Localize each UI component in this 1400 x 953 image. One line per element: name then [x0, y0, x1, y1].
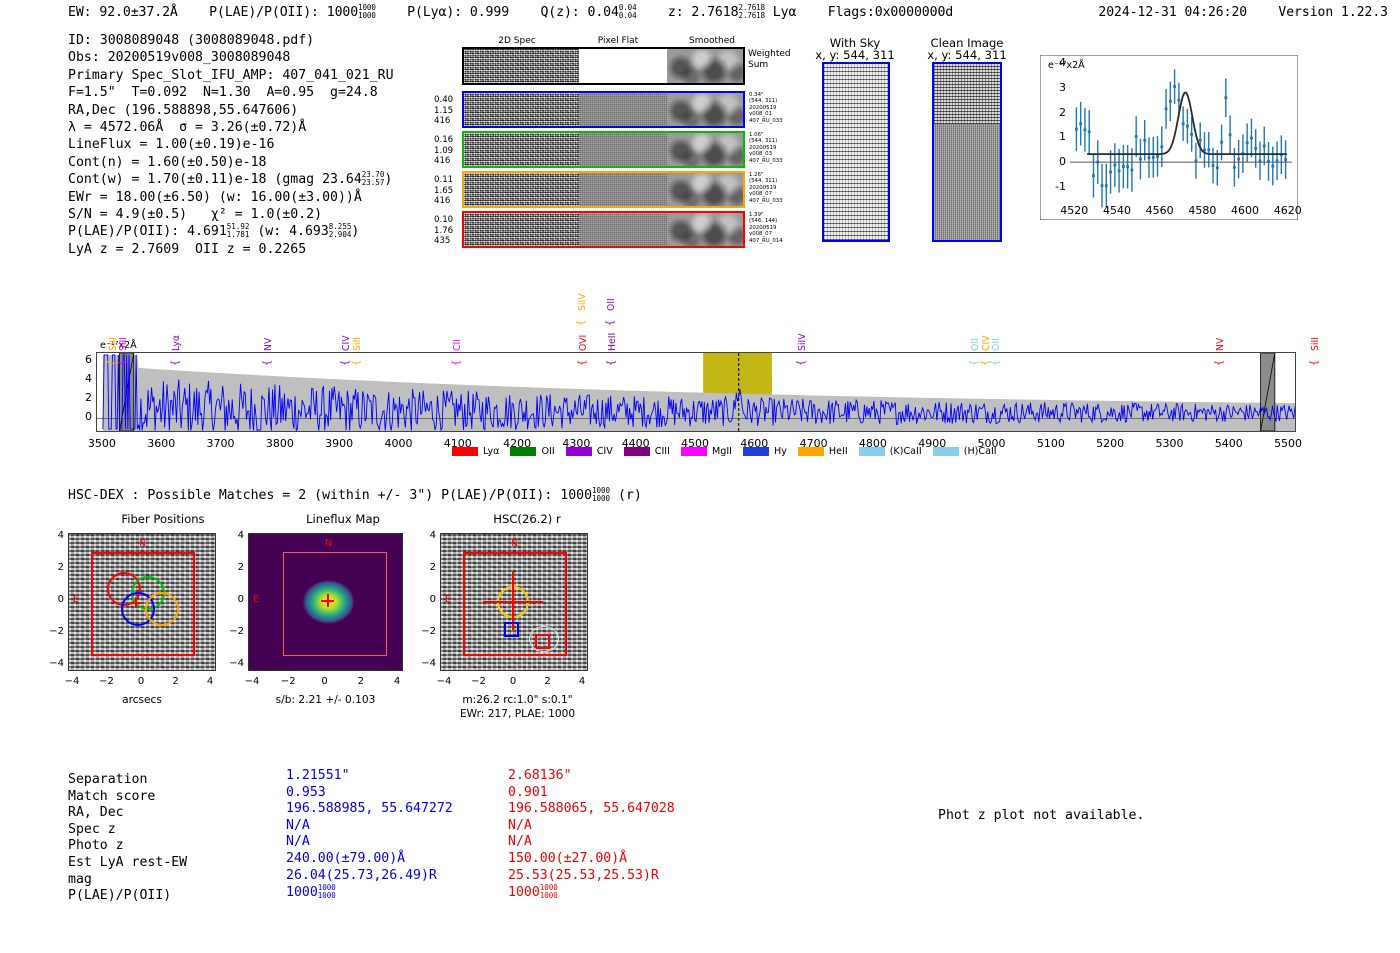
- hscdex-header: HSC-DEX : Possible Matches = 2 (within +…: [68, 487, 642, 503]
- full-spectrum-plot: [96, 352, 1296, 432]
- lineflux-map-title: Lineflux Map: [248, 512, 438, 526]
- match-2-radec: 196.588065, 55.647028: [508, 801, 675, 818]
- legend-label: HeII: [829, 446, 848, 457]
- spec2d-strip-4: [462, 211, 745, 248]
- emission-fit-xtick: 4520: [1050, 204, 1098, 217]
- spec2d-weighted-sum-label: Weighted Sum: [748, 49, 791, 71]
- spectrum-line-label: CIV: [341, 335, 352, 351]
- spectrum-line-label: SiII: [118, 337, 129, 351]
- hsc-image-title: HSC(26.2) r: [432, 512, 622, 526]
- header-plya: P(Lyα): 0.999: [407, 5, 509, 20]
- cutout-ytick: −4: [414, 658, 436, 669]
- object-parameters: ID: 3008089048 (3008089048.pdf) Obs: 202…: [68, 32, 394, 258]
- version: Version 1.22.3: [1278, 5, 1388, 20]
- cutout-ytick: −2: [222, 626, 244, 637]
- spectrum-line-label: SiII: [108, 337, 119, 351]
- cutout-ytick: −2: [42, 626, 64, 637]
- cutout-xtick: 4: [567, 676, 597, 687]
- hsc-image: N E: [440, 533, 588, 671]
- legend-swatch: [566, 447, 592, 456]
- match-2-mag: 25.53(25.53,25.53)R: [508, 868, 675, 885]
- spectrum-line-label: SiII: [1310, 337, 1321, 351]
- header-qz-label: Q(z): 0.04: [540, 5, 618, 20]
- spec2d-leftnums-2: 0.161.09416: [434, 135, 453, 167]
- hsc-match-marker-blue: [504, 622, 519, 637]
- spectrum-line-label: OII: [991, 338, 1002, 351]
- match-table-row-labels: Separation Match score RA, Dec Spec z Ph…: [68, 772, 187, 905]
- spectrum-line-label: OVI: [578, 335, 589, 351]
- legend-item: CIV: [566, 446, 613, 457]
- lineflux-map-caption: s/b: 2.21 +/- 0.103: [248, 694, 403, 706]
- param-id: ID: 3008089048 (3008089048.pdf): [68, 32, 394, 49]
- emission-fit-ytick: 0: [1044, 155, 1066, 168]
- emission-line-fit-svg: [1040, 55, 1298, 220]
- row-label: mag: [68, 872, 187, 889]
- row-label: RA, Dec: [68, 805, 187, 822]
- emission-fit-ytick: 2: [1044, 106, 1066, 119]
- legend-swatch: [859, 447, 885, 456]
- header-flags: Flags:0x0000000d: [828, 5, 953, 20]
- spectrum-line-label: SiII: [352, 337, 363, 351]
- spec2d-col-title-2dspec: 2D Spec: [482, 36, 552, 46]
- emission-fit-xtick: 4580: [1178, 204, 1226, 217]
- match-2-separation: 2.68136": [508, 768, 675, 785]
- full-spectrum-svg: [97, 353, 1295, 431]
- match-1-est-ew: 240.00(±79.00)Å: [286, 851, 453, 868]
- cutout-ytick: 2: [414, 562, 436, 573]
- spectrum-line-label: OII: [970, 338, 981, 351]
- spectrum-line-bracket: {: [262, 360, 273, 366]
- spectrum-line-bracket: {: [990, 360, 1001, 366]
- compass-north-2: N: [325, 538, 332, 549]
- cutout-ytick: 0: [414, 594, 436, 605]
- cutout-ytick: 2: [222, 562, 244, 573]
- spectrum-line-bracket: {: [796, 360, 807, 366]
- spectrum-line-bracket: {: [107, 360, 118, 366]
- spectrum-line-label: CII: [452, 339, 463, 351]
- cutout-ytick: 2: [42, 562, 64, 573]
- spectrum-line-bracket: {: [351, 360, 362, 366]
- summary-header: EW: 92.0±37.2Å P(LAE)/P(OII): 1000100010…: [68, 4, 953, 20]
- legend-swatch: [452, 447, 478, 456]
- legend-label: CIV: [597, 446, 613, 457]
- spec2d-leftnums-1: 0.401.15416: [434, 95, 453, 127]
- match-1-mag: 26.04(25.73,26.49)R: [286, 868, 453, 885]
- legend-item: (K)CaII: [859, 446, 922, 457]
- header-qz-range: 0.040.04: [619, 4, 637, 20]
- spec2d-col-title-smoothed: Smoothed: [672, 36, 752, 46]
- legend-label: Hy: [774, 446, 787, 457]
- spec2d-sidelabel-2: 1.06"(544, 311)20200519v008_03407_RU_033: [749, 132, 783, 164]
- legend-swatch: [681, 447, 707, 456]
- spectrum-line-label: OII: [606, 298, 617, 311]
- spectrum-line-label: NV: [1215, 338, 1226, 351]
- spectrum-xtick: 3500: [72, 437, 132, 450]
- param-obs: Obs: 20200519v008_3008089048: [68, 49, 394, 66]
- param-plae: P(LAE)/P(OII): 4.69151.921.781 (w: 4.693…: [68, 223, 394, 240]
- param-cont-w: Cont(w) = 1.70(±0.11)e-18 (gmag 23.6423.…: [68, 171, 394, 188]
- legend-swatch: [624, 447, 650, 456]
- spectrum-line-label: Lyα: [171, 335, 182, 351]
- legend-label: (K)CaII: [890, 446, 922, 457]
- cutout-ytick: −2: [414, 626, 436, 637]
- match-1-plae: 100010001000: [286, 884, 453, 901]
- compass-east-3: E: [445, 594, 451, 605]
- compass-north-1: N: [139, 538, 146, 549]
- spectrum-line-label: SiIV: [797, 333, 808, 351]
- spec2d-leftnums-3: 0.111.65416: [434, 175, 453, 207]
- hsc-caption-2: EWr: 217, PLAE: 1000: [440, 708, 595, 720]
- spectrum-ytick: 4: [72, 372, 92, 385]
- spectrum-xtick: 5100: [1021, 437, 1081, 450]
- emission-fit-xtick: 4560: [1136, 204, 1184, 217]
- row-label: P(LAE)/P(OII): [68, 888, 187, 905]
- header-z-label: z: 2.7618: [668, 5, 739, 20]
- spectrum-xtick: 5200: [1080, 437, 1140, 450]
- spectrum-line-bracket: {: [1309, 360, 1320, 366]
- cutout-xtick: 4: [195, 676, 225, 687]
- legend-item: MgII: [681, 446, 732, 457]
- legend-item: OII: [510, 446, 554, 457]
- match-2-specz: N/A: [508, 818, 675, 835]
- cutout-xtick: 0: [126, 676, 156, 687]
- legend-swatch: [798, 447, 824, 456]
- spectrum-xtick: 5500: [1258, 437, 1318, 450]
- spectrum-legend: LyαOIICIVCIIIMgIIHyHeII(K)CaII(H)CaII: [452, 446, 1008, 457]
- param-seeing: F=1.5" T=0.092 N=1.30 A=0.95 g=24.8: [68, 84, 394, 101]
- match-1-specz: N/A: [286, 818, 453, 835]
- cutout-ytick: −4: [42, 658, 64, 669]
- spectrum-line-bracket: {: [969, 360, 980, 366]
- emission-fit-ytick: 4: [1044, 56, 1066, 69]
- cutout-xtick: 2: [161, 676, 191, 687]
- hsc-caption-1: m:26.2 rc:1.0" s:0.1": [440, 694, 595, 706]
- emission-fit-xtick: 4540: [1093, 204, 1141, 217]
- spec2d-strip-1: [462, 91, 745, 128]
- cutout-xtick: 0: [498, 676, 528, 687]
- legend-label: MgII: [712, 446, 732, 457]
- legend-label: CIII: [655, 446, 670, 457]
- legend-swatch: [933, 447, 959, 456]
- fiber-circle-orange: [145, 592, 179, 626]
- cutout-ytick: 4: [42, 530, 64, 541]
- spectrum-xtick: 3800: [250, 437, 310, 450]
- cutout-xtick: −2: [464, 676, 494, 687]
- param-lambda: λ = 4572.06Å σ = 3.26(±0.72)Å: [68, 119, 394, 136]
- legend-item: CIII: [624, 446, 670, 457]
- spectrum-xtick: 5400: [1199, 437, 1259, 450]
- row-label: Photo z: [68, 838, 187, 855]
- spectrum-line-label: CIV: [981, 335, 992, 351]
- emission-fit-ytick: -1: [1044, 180, 1066, 193]
- row-label: Separation: [68, 772, 187, 789]
- cutout-xtick: −2: [273, 676, 303, 687]
- cutout-ytick: −4: [222, 658, 244, 669]
- photz-note: Phot z plot not available.: [938, 808, 1144, 823]
- cutout-xtick: −4: [237, 676, 267, 687]
- spectrum-line-bracket: {: [606, 360, 617, 366]
- legend-item: HeII: [798, 446, 848, 457]
- legend-item: Hy: [743, 446, 787, 457]
- spectrum-line-label: HeII: [607, 333, 618, 351]
- spectrum-xtick: 4000: [368, 437, 428, 450]
- legend-swatch: [743, 447, 769, 456]
- match-2-plae: 100010001000: [508, 884, 675, 901]
- spectrum-line-bracket: {: [605, 320, 616, 326]
- match-1-separation: 1.21551": [286, 768, 453, 785]
- spectrum-xtick: 5300: [1139, 437, 1199, 450]
- spec2d-sidelabel-1: 0.34"(544, 311)20200519v008_01407_RU_033: [749, 92, 783, 124]
- header-z-type: Lyα: [773, 5, 797, 20]
- emission-fit-xtick: 4620: [1264, 204, 1312, 217]
- spectrum-line-bracket: {: [576, 320, 587, 326]
- spectrum-line-bracket: {: [577, 360, 588, 366]
- spectrum-line-bracket: {: [117, 360, 128, 366]
- spectrum-line-bracket: {: [340, 360, 351, 366]
- spec2d-leftnums-4: 0.101.76435: [434, 215, 453, 247]
- withsky-image: [822, 62, 890, 242]
- legend-swatch: [510, 447, 536, 456]
- match-2-score: 0.901: [508, 785, 675, 802]
- cutout-xtick: 2: [533, 676, 563, 687]
- legend-label: Lyα: [483, 446, 499, 457]
- param-ewr: EWr = 18.00(±6.50) (w: 16.00(±3.00))Å: [68, 189, 394, 206]
- legend-item: Lyα: [452, 446, 499, 457]
- row-label: Est LyA rest-EW: [68, 855, 187, 872]
- spec2d-col-title-pixelflat: Pixel Flat: [578, 36, 658, 46]
- param-radec: RA,Dec (196.588898,55.647606): [68, 102, 394, 119]
- spec2d-strip-3: [462, 171, 745, 208]
- header-z-range: 2.76182.7618: [738, 4, 765, 20]
- spectrum-ytick: 0: [72, 410, 92, 423]
- param-primary-spec: Primary Spec_Slot_IFU_AMP: 407_041_021_R…: [68, 67, 394, 84]
- cutout-ytick: 4: [414, 530, 436, 541]
- emission-line-fit-plot: [1040, 55, 1298, 220]
- spectrum-xtick: 3600: [131, 437, 191, 450]
- spectrum-line-label: NV: [263, 338, 274, 351]
- timestamp: 2024-12-31 04:26:20: [1098, 5, 1247, 20]
- row-label: Spec z: [68, 822, 187, 839]
- cutout-ytick: 0: [222, 594, 244, 605]
- spectrum-ytick: 2: [72, 391, 92, 404]
- param-lineflux: LineFlux = 1.00(±0.19)e-16: [68, 136, 394, 153]
- spec2d-sidelabel-4: 1.39"(546, 144)20200519v008_07407_RU_014: [749, 212, 783, 244]
- spec2d-strip-2: [462, 131, 745, 168]
- cutout-xtick: −4: [57, 676, 87, 687]
- header-ew: EW: 92.0±37.2Å: [68, 5, 178, 20]
- header-plae-range: 10001000: [358, 4, 376, 20]
- cleanimage-image: [932, 62, 1002, 242]
- legend-label: (H)CaII: [964, 446, 997, 457]
- spectrum-line-bracket: {: [1214, 360, 1225, 366]
- fiber-positions-title: Fiber Positions: [68, 512, 258, 526]
- emission-fit-ytick: 3: [1044, 81, 1066, 94]
- match-1-score: 0.953: [286, 785, 453, 802]
- spectrum-line-bracket: {: [980, 360, 991, 366]
- cutout-xtick: 2: [346, 676, 376, 687]
- cutout-xtick: −2: [92, 676, 122, 687]
- cutout-xtick: 0: [310, 676, 340, 687]
- match-2-est-ew: 150.00(±27.00)Å: [508, 851, 675, 868]
- cutout-xtick: −4: [429, 676, 459, 687]
- cutout-xtick: 4: [382, 676, 412, 687]
- match-1-column: 1.21551" 0.953 196.588985, 55.647272 N/A…: [286, 768, 453, 901]
- compass-north-3: N: [511, 538, 518, 549]
- spectrum-line-label: SiIV: [577, 293, 588, 311]
- match-1-photoz: N/A: [286, 834, 453, 851]
- cleanimage-subtitle: x, y: 544, 311: [912, 48, 1022, 62]
- compass-east-2: E: [253, 594, 259, 605]
- cutout-ytick: 0: [42, 594, 64, 605]
- row-label: Match score: [68, 789, 187, 806]
- spectrum-ytick: 6: [72, 353, 92, 366]
- cutout-ytick: 4: [222, 530, 244, 541]
- withsky-subtitle: x, y: 544, 311: [805, 48, 905, 62]
- timestamp-version: 2024-12-31 04:26:20 Version 1.22.3: [1098, 5, 1388, 20]
- spec2d-weighted-sum-strip: [462, 47, 745, 85]
- param-snr: S/N = 4.9(±0.5) χ² = 1.0(±0.2): [68, 206, 394, 223]
- param-cont-n: Cont(n) = 1.60(±0.50)e-18: [68, 154, 394, 171]
- match-2-photoz: N/A: [508, 834, 675, 851]
- legend-label: OII: [541, 446, 554, 457]
- param-redshifts: LyA z = 2.7609 OII z = 0.2265: [68, 241, 394, 258]
- fiber-positions-xlabel: arcsecs: [68, 694, 216, 706]
- legend-item: (H)CaII: [933, 446, 997, 457]
- match-2-column: 2.68136" 0.901 196.588065, 55.647028 N/A…: [508, 768, 675, 901]
- spectrum-line-bracket: {: [451, 360, 462, 366]
- spectrum-line-bracket: {: [170, 360, 181, 366]
- compass-east-1: E: [73, 594, 79, 605]
- spectrum-xtick: 3900: [309, 437, 369, 450]
- lineflux-map-image: N E: [248, 533, 403, 671]
- fiber-positions-image: N E: [68, 533, 216, 671]
- header-plae-label: P(LAE)/P(OII): 1000: [209, 5, 358, 20]
- spectrum-xtick: 3700: [191, 437, 251, 450]
- emission-fit-ytick: 1: [1044, 130, 1066, 143]
- emission-fit-xtick: 4600: [1221, 204, 1269, 217]
- match-1-radec: 196.588985, 55.647272: [286, 801, 453, 818]
- spec2d-sidelabel-3: 1.26"(544, 311)20200519v008_07407_RU_033: [749, 172, 783, 204]
